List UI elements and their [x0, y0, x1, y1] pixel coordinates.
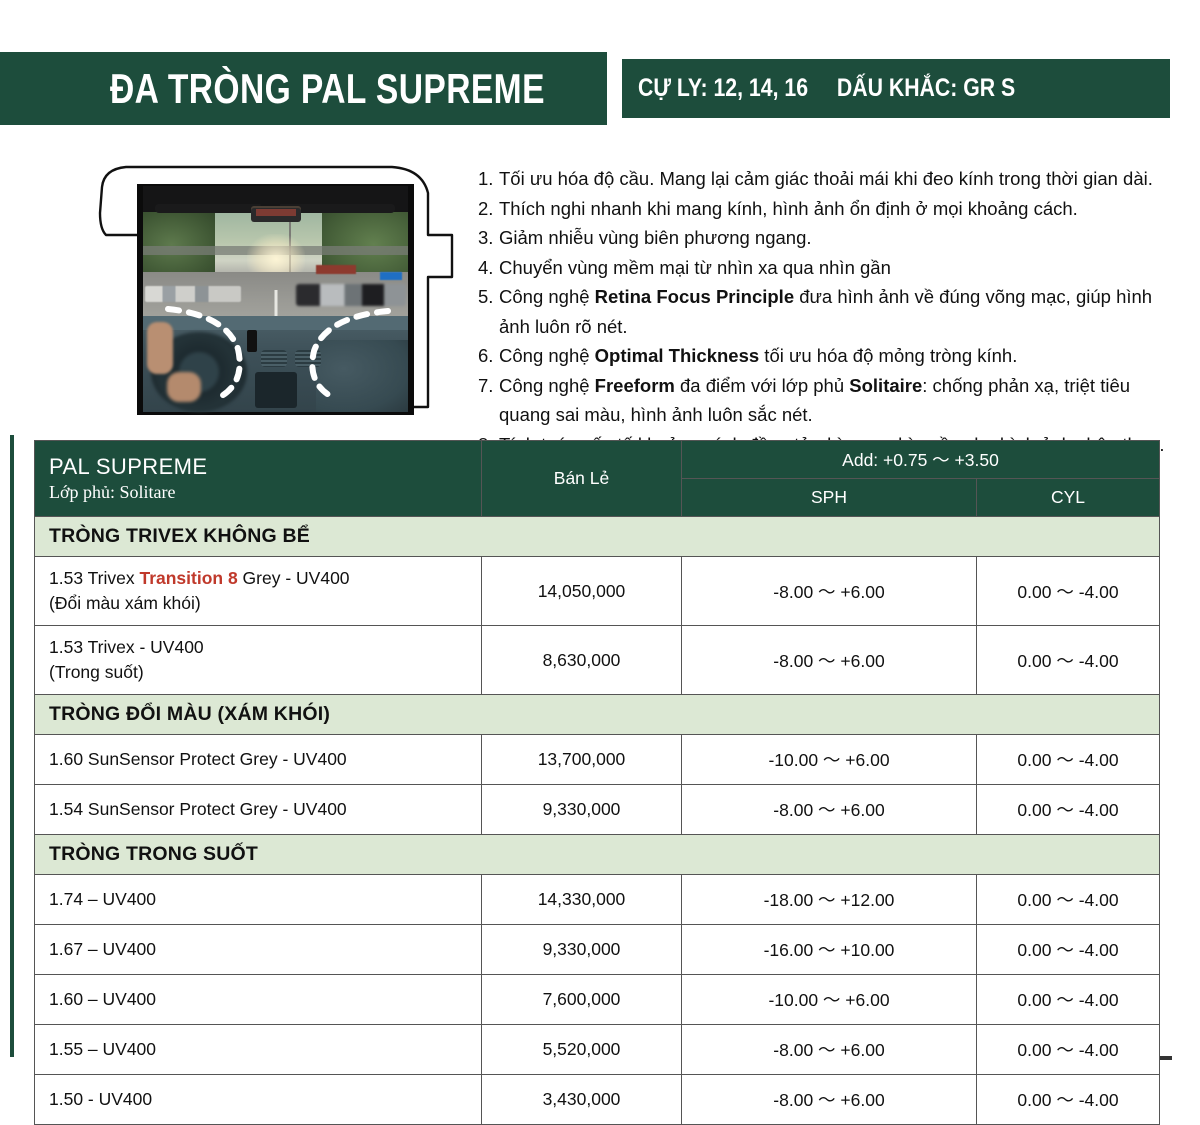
cyl-range-cell: 0.00 ～ -4.00	[977, 1075, 1160, 1125]
feature-list: 1.Tối ưu hóa độ cầu. Mang lại cảm giác t…	[478, 164, 1178, 459]
feature-item: 7.Công nghệ Freeform đa điểm với lớp phủ…	[478, 371, 1178, 430]
table-section-header-row: TRÒNG ĐỔI MÀU (XÁM KHÓI)	[35, 695, 1160, 735]
table-head-row-1: PAL SUPREME Lớp phủ: Solitare Bán Lẻ Add…	[35, 441, 1160, 479]
feature-item: 2.Thích nghi nhanh khi mang kính, hình ả…	[478, 194, 1178, 224]
sph-range-cell: -18.00 ～ +12.00	[682, 875, 977, 925]
feature-number: 5.	[478, 282, 499, 341]
traffic-right	[296, 284, 406, 306]
table-row: 1.60 SunSensor Protect Grey - UV40013,70…	[35, 735, 1160, 785]
lens-name-line: 1.55 – UV400	[49, 1037, 481, 1062]
feature-text: Công nghệ Optimal Thickness tối ưu hóa đ…	[499, 341, 1178, 371]
lens-name-cell: 1.74 – UV400	[35, 875, 482, 925]
retail-price-cell: 9,330,000	[482, 785, 682, 835]
retail-price-cell: 14,330,000	[482, 875, 682, 925]
feature-number: 6.	[478, 341, 499, 371]
feature-number: 2.	[478, 194, 499, 224]
blue-sign	[380, 272, 402, 280]
lens-name-line: 1.53 Trivex Transition 8 Grey - UV400	[49, 566, 481, 591]
sph-range-cell: -16.00 ～ +10.00	[682, 925, 977, 975]
cyl-range-cell: 0.00 ～ -4.00	[977, 925, 1160, 975]
sph-range-cell: -10.00 ～ +6.00	[682, 735, 977, 785]
feature-text: Công nghệ Freeform đa điểm với lớp phủ S…	[499, 371, 1178, 430]
table-row: 1.50 - UV4003,430,000-8.00 ～ +6.000.00 ～…	[35, 1075, 1160, 1125]
table-row: 1.74 – UV40014,330,000-18.00 ～ +12.000.0…	[35, 875, 1160, 925]
table-body: TRÒNG TRIVEX KHÔNG BỂ1.53 Trivex Transit…	[35, 517, 1160, 1125]
header-add-range: Add: +0.75 ～ +3.50	[682, 441, 1160, 479]
feature-number: 3.	[478, 223, 499, 253]
feature-item: 1.Tối ưu hóa độ cầu. Mang lại cảm giác t…	[478, 164, 1178, 194]
rearview-mirror	[251, 206, 301, 222]
lens-name-cell: 1.53 Trivex Transition 8 Grey - UV400(Đổ…	[35, 557, 482, 626]
tree-left	[143, 212, 215, 278]
feature-text: Tối ưu hóa độ cầu. Mang lại cảm giác tho…	[499, 164, 1178, 194]
table-row: 1.54 SunSensor Protect Grey - UV4009,330…	[35, 785, 1160, 835]
header-coating: Lớp phủ: Solitare	[49, 480, 481, 504]
red-sign	[316, 265, 356, 274]
header-cyl: CYL	[977, 479, 1160, 517]
lens-name-line: 1.50 - UV400	[49, 1087, 481, 1112]
cyl-range-cell: 0.00 ～ -4.00	[977, 1025, 1160, 1075]
table-section-header-row: TRÒNG TRIVEX KHÔNG BỂ	[35, 517, 1160, 557]
table-head: PAL SUPREME Lớp phủ: Solitare Bán Lẻ Add…	[35, 441, 1160, 517]
engraving-label: DẤU KHẮC: GR S	[837, 74, 1015, 103]
cyl-range-cell: 0.00 ～ -4.00	[977, 626, 1160, 695]
table-section-header-row: TRÒNG TRONG SUỐT	[35, 835, 1160, 875]
lens-name-line: 1.74 – UV400	[49, 887, 481, 912]
page-title: ĐA TRÒNG PAL SUPREME	[110, 52, 545, 125]
lens-name-line: 1.67 – UV400	[49, 937, 481, 962]
table-section-label: TRÒNG TRIVEX KHÔNG BỂ	[35, 517, 1160, 557]
lens-name-cell: 1.60 SunSensor Protect Grey - UV400	[35, 735, 482, 785]
table-row: 1.53 Trivex - UV400(Trong suốt)8,630,000…	[35, 626, 1160, 695]
table-row: 1.53 Trivex Transition 8 Grey - UV400(Đổ…	[35, 557, 1160, 626]
lens-illustration	[92, 157, 462, 425]
lens-name-line: 1.60 SunSensor Protect Grey - UV400	[49, 747, 481, 772]
lens-name-subline: (Trong suốt)	[49, 660, 481, 685]
retail-price-cell: 13,700,000	[482, 735, 682, 785]
feature-item: 5.Công nghệ Retina Focus Principle đưa h…	[478, 282, 1178, 341]
sph-range-cell: -8.00 ～ +6.00	[682, 1025, 977, 1075]
lens-name-cell: 1.55 – UV400	[35, 1025, 482, 1075]
feature-text: Chuyển vùng mềm mại từ nhìn xa qua nhìn …	[499, 253, 1178, 283]
feature-number: 1.	[478, 164, 499, 194]
table-row: 1.67 – UV4009,330,000-16.00 ～ +10.000.00…	[35, 925, 1160, 975]
feature-item: 6.Công nghệ Optimal Thickness tối ưu hóa…	[478, 341, 1178, 371]
cyl-range-cell: 0.00 ～ -4.00	[977, 735, 1160, 785]
sph-range-cell: -8.00 ～ +6.00	[682, 557, 977, 626]
header-title-block: ĐA TRÒNG PAL SUPREME	[0, 52, 607, 125]
sph-range-cell: -8.00 ～ +6.00	[682, 626, 977, 695]
retail-price-cell: 9,330,000	[482, 925, 682, 975]
header-retail: Bán Lẻ	[482, 441, 682, 517]
retail-price-cell: 14,050,000	[482, 557, 682, 626]
sph-range-cell: -8.00 ～ +6.00	[682, 785, 977, 835]
sph-range-cell: -10.00 ～ +6.00	[682, 975, 977, 1025]
lens-name-cell: 1.54 SunSensor Protect Grey - UV400	[35, 785, 482, 835]
lens-name-line: 1.60 – UV400	[49, 987, 481, 1012]
feature-text: Giảm nhiễu vùng biên phương ngang.	[499, 223, 1178, 253]
feature-text: Công nghệ Retina Focus Principle đưa hìn…	[499, 282, 1178, 341]
distance-label: CỰ LY: 12, 14, 16	[638, 74, 808, 103]
mirror-reflection	[256, 209, 296, 216]
table-row: 1.60 – UV4007,600,000-10.00 ～ +6.000.00 …	[35, 975, 1160, 1025]
lens-name-cell: 1.50 - UV400	[35, 1075, 482, 1125]
retail-price-cell: 8,630,000	[482, 626, 682, 695]
windshield-scene	[143, 212, 408, 320]
header-spec-row: CỰ LY: 12, 14, 16 DẤU KHẮC: GR S	[638, 59, 1015, 118]
lens-name-cell: 1.60 – UV400	[35, 975, 482, 1025]
cyl-range-cell: 0.00 ～ -4.00	[977, 875, 1160, 925]
cyl-range-cell: 0.00 ～ -4.00	[977, 557, 1160, 626]
feature-number: 7.	[478, 371, 499, 430]
lens-name-subline: (Đổi màu xám khói)	[49, 591, 481, 616]
table-section-label: TRÒNG ĐỔI MÀU (XÁM KHÓI)	[35, 695, 1160, 735]
retail-price-cell: 5,520,000	[482, 1025, 682, 1075]
near-vision-zone-dashed	[164, 305, 282, 401]
header-sph: SPH	[682, 479, 977, 517]
feature-item: 4.Chuyển vùng mềm mại từ nhìn xa qua nhì…	[478, 253, 1178, 283]
table-row: 1.55 – UV4005,520,000-8.00 ～ +6.000.00 ～…	[35, 1025, 1160, 1075]
page-left-rule	[10, 435, 14, 1057]
header-product-cell: PAL SUPREME Lớp phủ: Solitare	[35, 441, 482, 517]
retail-price-cell: 3,430,000	[482, 1075, 682, 1125]
lens-name-cell: 1.53 Trivex - UV400(Trong suốt)	[35, 626, 482, 695]
lens-name-line: 1.54 SunSensor Protect Grey - UV400	[49, 797, 481, 822]
retail-price-cell: 7,600,000	[482, 975, 682, 1025]
parked-cars-left	[145, 286, 241, 302]
far-vision-zone-dashed	[288, 305, 392, 401]
header-product-title: PAL SUPREME	[49, 453, 481, 480]
page-header: ĐA TRÒNG PAL SUPREME CỰ LY: 12, 14, 16 D…	[0, 52, 1170, 125]
lens-name-line: 1.53 Trivex - UV400	[49, 635, 481, 660]
feature-text: Thích nghi nhanh khi mang kính, hình ảnh…	[499, 194, 1178, 224]
sph-range-cell: -8.00 ～ +6.00	[682, 1075, 977, 1125]
sun-glow	[247, 234, 305, 276]
lens-name-cell: 1.67 – UV400	[35, 925, 482, 975]
table-section-label: TRÒNG TRONG SUỐT	[35, 835, 1160, 875]
feature-number: 4.	[478, 253, 499, 283]
page-number-mark	[1160, 1056, 1172, 1060]
price-table: PAL SUPREME Lớp phủ: Solitare Bán Lẻ Add…	[34, 440, 1160, 1125]
header-spec-block: CỰ LY: 12, 14, 16 DẤU KHẮC: GR S	[622, 59, 1170, 118]
cyl-range-cell: 0.00 ～ -4.00	[977, 785, 1160, 835]
feature-item: 3.Giảm nhiễu vùng biên phương ngang.	[478, 223, 1178, 253]
cyl-range-cell: 0.00 ～ -4.00	[977, 975, 1160, 1025]
